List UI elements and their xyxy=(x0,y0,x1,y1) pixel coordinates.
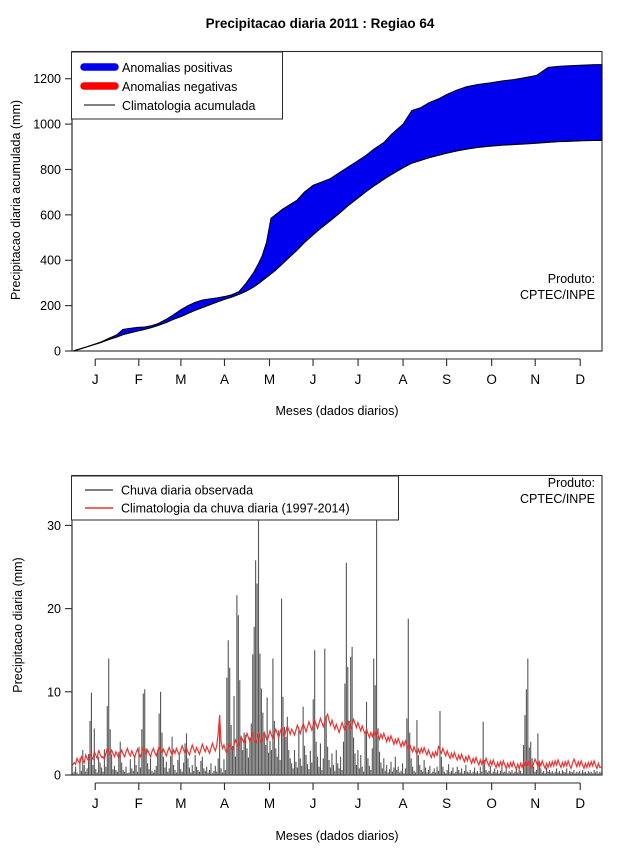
figure-page: Precipitacao diaria 2011 : Regiao 64 Pre… xyxy=(0,0,640,850)
cumulative-x-tick-label-O: O xyxy=(486,372,497,387)
legend-label-climatologia-chuva-diaria: Climatologia da chuva diaria (1997-2014) xyxy=(121,502,350,516)
cumulative-x-tick-label-M: M xyxy=(264,372,275,387)
daily-produto-line2: CPTEC/INPE xyxy=(520,492,595,506)
daily-y-tick-label: 20 xyxy=(47,602,61,616)
cumulative-y-tick-label: 200 xyxy=(40,299,61,313)
cumulative-x-tick-label-A: A xyxy=(399,372,408,387)
cumulative-y-tick-label: 400 xyxy=(40,254,61,268)
cumulative-x-tick-label-S: S xyxy=(442,372,451,387)
daily-x-tick-label-O: O xyxy=(486,796,497,811)
cumulative-y-tick-label: 1000 xyxy=(33,118,61,132)
daily-y-tick-label: 0 xyxy=(54,769,61,783)
cumulative-x-tick-label-F: F xyxy=(135,372,143,387)
cumulative-produto-line1: Produto: xyxy=(548,272,595,286)
daily-x-tick-label-M: M xyxy=(175,796,186,811)
cumulative-x-tick-label-J: J xyxy=(92,372,99,387)
daily-legend: Chuva diaria observada Climatologia da c… xyxy=(72,476,399,520)
cumulative-y-tick-label: 0 xyxy=(54,345,61,359)
cumulative-legend: Anomalias positivas Anomalias negativas … xyxy=(72,52,283,119)
cumulative-x-axis-label: Meses (dados diarios) xyxy=(276,404,399,418)
daily-precipitation-chart: Precipitacao diaria (mm) Meses (dados di… xyxy=(0,430,640,850)
daily-x-tick-label-J: J xyxy=(310,796,317,811)
cumulative-x-axis: JFMAMJJASOND xyxy=(92,359,585,387)
cumulative-precipitation-chart: Precipitacao diaria 2011 : Regiao 64 Pre… xyxy=(0,0,640,430)
daily-x-tick-label-M: M xyxy=(264,796,275,811)
page-title: Precipitacao diaria 2011 : Regiao 64 xyxy=(206,16,435,31)
daily-y-tick-label: 30 xyxy=(47,519,61,533)
cumulative-y-axis: 020040060080010001200 xyxy=(33,72,72,358)
cumulative-y-tick-label: 1200 xyxy=(33,72,61,86)
cumulative-chart-svg: Precipitacao diaria 2011 : Regiao 64 Pre… xyxy=(0,0,640,430)
daily-x-tick-label-S: S xyxy=(442,796,451,811)
cumulative-y-tick-label: 800 xyxy=(40,163,61,177)
daily-x-tick-label-J: J xyxy=(92,796,99,811)
daily-y-tick-label: 10 xyxy=(47,685,61,699)
cumulative-x-tick-label-A: A xyxy=(220,372,229,387)
cumulative-x-tick-label-D: D xyxy=(575,372,585,387)
cumulative-climatology-line xyxy=(73,140,602,351)
legend-label-chuva-diaria-observada: Chuva diaria observada xyxy=(121,484,253,498)
cumulative-produto-line2: CPTEC/INPE xyxy=(520,288,595,302)
daily-x-tick-label-N: N xyxy=(530,796,540,811)
daily-x-tick-label-A: A xyxy=(399,796,408,811)
daily-chart-svg: Precipitacao diaria (mm) Meses (dados di… xyxy=(0,430,640,850)
daily-climatology-line xyxy=(73,714,602,769)
daily-x-tick-label-D: D xyxy=(575,796,585,811)
daily-x-tick-label-J: J xyxy=(355,796,362,811)
cumulative-x-tick-label-J: J xyxy=(310,372,317,387)
cumulative-y-tick-label: 600 xyxy=(40,208,61,222)
cumulative-x-tick-label-J: J xyxy=(355,372,362,387)
daily-x-axis: JFMAMJJASOND xyxy=(92,783,585,811)
cumulative-x-tick-label-M: M xyxy=(175,372,186,387)
legend-label-climatologia-acumulada: Climatologia acumulada xyxy=(122,99,255,113)
cumulative-x-tick-label-N: N xyxy=(530,372,540,387)
legend-label-anomalias-positivas: Anomalias positivas xyxy=(122,61,232,75)
daily-x-axis-label: Meses (dados diarios) xyxy=(276,829,399,843)
daily-y-axis: 0102030 xyxy=(47,519,72,783)
cumulative-y-axis-label: Precipitacao diaria acumulada (mm) xyxy=(9,100,23,300)
daily-y-axis-label: Precipitacao diaria (mm) xyxy=(11,557,25,692)
daily-x-tick-label-F: F xyxy=(135,796,143,811)
legend-label-anomalias-negativas: Anomalias negativas xyxy=(122,80,237,94)
daily-produto-line1: Produto: xyxy=(548,476,595,490)
daily-x-tick-label-A: A xyxy=(220,796,229,811)
